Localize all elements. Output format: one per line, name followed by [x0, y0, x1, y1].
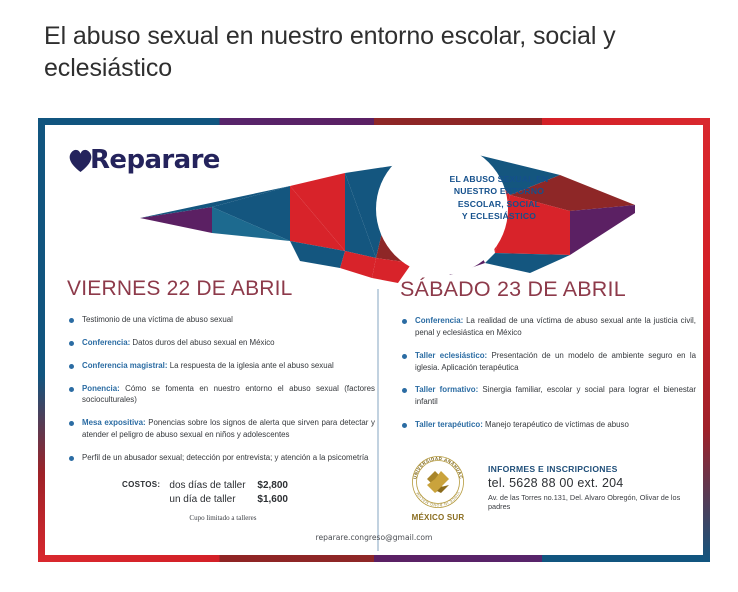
circle-title-line-3: ESCOLAR, SOCIAL	[440, 198, 558, 210]
svg-text:VINCE IN BONO MALUM: VINCE IN BONO MALUM	[416, 491, 461, 507]
list-item: Perfil de un abusador sexual; detección …	[67, 452, 375, 464]
day-one-column: VIERNES 22 DE ABRIL Testimonio de una ví…	[67, 277, 375, 522]
circle-title-line-1: EL ABUSO SEXUAL EN	[440, 173, 558, 185]
day-two-list: Conferencia: La realidad de una víctima …	[400, 315, 696, 431]
costs-label: COSTOS:	[122, 479, 160, 489]
poster-border-right	[703, 118, 710, 562]
list-item: Taller formativo: Sinergia familiar, esc…	[400, 384, 696, 408]
page-title: El abuso sexual en nuestro entorno escol…	[44, 20, 654, 84]
costs-row: un día de taller $1,600	[169, 493, 288, 508]
circle-title-line-4: Y ECLESIÁSTICO	[440, 210, 558, 222]
poster-content: Reparare	[45, 125, 703, 555]
item-lead: Ponencia:	[82, 384, 120, 393]
column-divider	[377, 289, 379, 551]
geometric-lens-graphic: EL ABUSO SEXUAL EN NUESTRO ENTORNO ESCOL…	[140, 133, 635, 285]
seal-icon: UNIVERSIDAD ANÁHUAC VINCE IN BONO MALUM	[407, 453, 469, 511]
contact-title: INFORMES E INSCRIPCIONES	[488, 464, 696, 474]
day-two-column: SÁBADO 23 DE ABRIL Conferencia: La reali…	[400, 277, 696, 522]
costs-note: Cupo limitado a talleres	[189, 514, 288, 522]
item-lead: Conferencia:	[415, 316, 463, 325]
costs-block: COSTOS: dos días de taller $2,800 un día…	[122, 479, 375, 522]
list-item: Ponencia: Cómo se fomenta en nuestro ent…	[67, 383, 375, 407]
contact-address: Av. de las Torres no.131, Del. Alvaro Ob…	[488, 493, 696, 511]
contact-details: INFORMES E INSCRIPCIONES tel. 5628 88 00…	[488, 464, 696, 511]
list-item: Testimonio de una víctima de abuso sexua…	[67, 314, 375, 326]
list-item: Taller eclesiástico: Presentación de un …	[400, 350, 696, 374]
item-lead: Taller formativo:	[415, 385, 478, 394]
poster-border-top	[38, 118, 710, 125]
costs-amount: $1,600	[257, 493, 288, 508]
list-item: Conferencia: La realidad de una víctima …	[400, 315, 696, 339]
costs-amount: $2,800	[257, 479, 288, 494]
day-one-title: VIERNES 22 DE ABRIL	[67, 277, 375, 301]
list-item: Mesa expositiva: Ponencias sobre los sig…	[67, 417, 375, 441]
seal-caption: MÉXICO SUR	[400, 513, 476, 522]
poster-border-left	[38, 118, 45, 562]
program-columns: VIERNES 22 DE ABRIL Testimonio de una ví…	[45, 277, 703, 555]
item-lead: Taller eclesiástico:	[415, 351, 487, 360]
item-text: Perfil de un abusador sexual; detección …	[82, 453, 368, 462]
item-text: Datos duros del abuso sexual en México	[130, 338, 274, 347]
universidad-anahuac-seal: UNIVERSIDAD ANÁHUAC VINCE IN BONO MALUM	[400, 453, 476, 522]
contact-phone: tel. 5628 88 00 ext. 204	[488, 476, 696, 490]
costs-rows: dos días de taller $2,800 un día de tall…	[169, 479, 288, 522]
costs-row: dos días de taller $2,800	[169, 479, 288, 494]
day-one-list: Testimonio de una víctima de abuso sexua…	[67, 314, 375, 464]
contact-block: UNIVERSIDAD ANÁHUAC VINCE IN BONO MALUM	[400, 453, 696, 522]
item-text: La respuesta de la iglesia ante el abuso…	[168, 361, 334, 370]
contact-email[interactable]: reparare.congreso@gmail.com	[45, 533, 703, 542]
lens-facets	[140, 133, 635, 285]
item-lead: Mesa expositiva:	[82, 418, 146, 427]
costs-description: dos días de taller	[169, 479, 257, 494]
costs-description: un día de taller	[169, 493, 257, 508]
circle-title-line-2: NUESTRO ENTORNO	[440, 185, 558, 197]
list-item: Conferencia magistral: La respuesta de l…	[67, 360, 375, 372]
poster-border-bottom	[38, 555, 710, 562]
poster-circle-title: EL ABUSO SEXUAL EN NUESTRO ENTORNO ESCOL…	[440, 173, 558, 223]
item-lead: Conferencia:	[82, 338, 130, 347]
item-text: Cómo se fomenta en nuestro entorno el ab…	[82, 384, 375, 405]
item-lead: Taller terapéutico:	[415, 420, 483, 429]
item-lead: Conferencia magistral:	[82, 361, 168, 370]
list-item: Conferencia: Datos duros del abuso sexua…	[67, 337, 375, 349]
list-item: Taller terapéutico: Manejo terapéutico d…	[400, 419, 696, 431]
day-two-title: SÁBADO 23 DE ABRIL	[400, 277, 696, 302]
event-poster: Reparare	[38, 118, 710, 562]
item-text: Manejo terapéutico de víctimas de abuso	[483, 420, 629, 429]
item-text: Testimonio de una víctima de abuso sexua…	[82, 315, 233, 324]
